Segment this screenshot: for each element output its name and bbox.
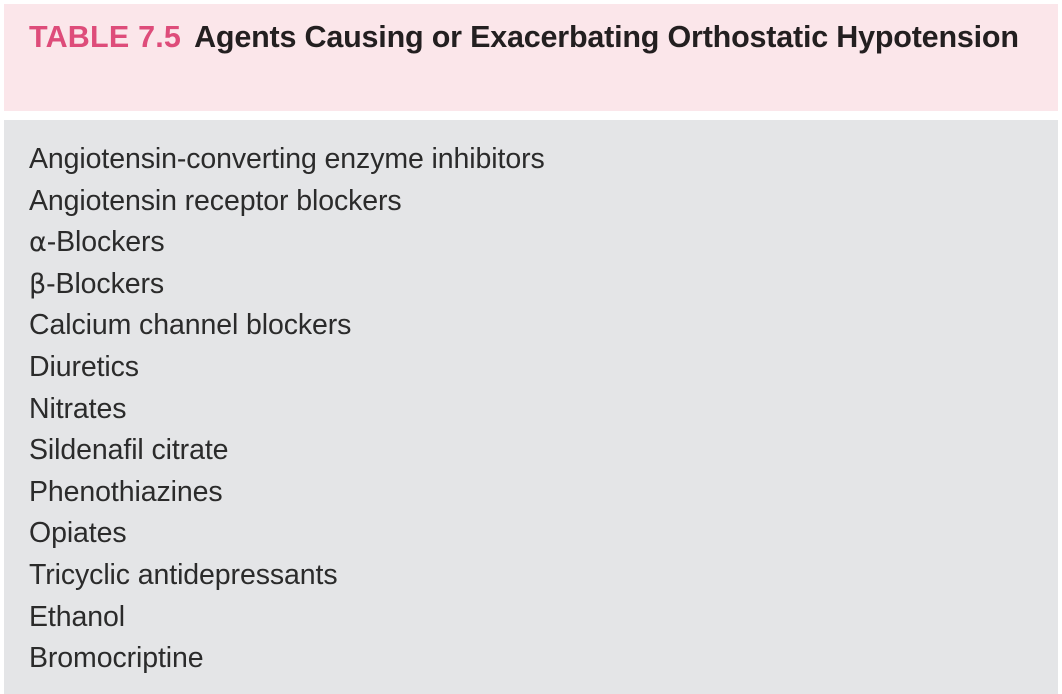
table-body-panel: Angiotensin-converting enzyme inhibitors… (4, 120, 1058, 694)
greek-letter: α (29, 227, 47, 258)
list-item: α-Blockers (29, 222, 1058, 264)
greek-letter: β (29, 269, 46, 300)
list-item: Sildenafil citrate (29, 430, 1058, 472)
list-item: Angiotensin receptor blockers (29, 181, 1058, 223)
table-number-label: TABLE 7.5 (29, 20, 181, 54)
table-card: TABLE 7.5Agents Causing or Exacerbating … (0, 0, 1062, 694)
table-caption: TABLE 7.5Agents Causing or Exacerbating … (29, 18, 1036, 57)
list-item: Bromocriptine (29, 638, 1058, 680)
list-item: Phenothiazines (29, 472, 1058, 514)
list-item: Opiates (29, 513, 1058, 555)
agent-list: Angiotensin-converting enzyme inhibitors… (29, 139, 1058, 680)
list-item: Angiotensin-converting enzyme inhibitors (29, 139, 1058, 181)
table-header: TABLE 7.5Agents Causing or Exacerbating … (4, 4, 1058, 111)
table-title: Agents Causing or Exacerbating Orthostat… (194, 20, 1019, 54)
list-item: Ethanol (29, 597, 1058, 639)
list-item: Diuretics (29, 347, 1058, 389)
list-item: Calcium channel blockers (29, 305, 1058, 347)
list-item: Nitrates (29, 389, 1058, 431)
list-item: Tricyclic antidepressants (29, 555, 1058, 597)
list-item: β-Blockers (29, 264, 1058, 306)
